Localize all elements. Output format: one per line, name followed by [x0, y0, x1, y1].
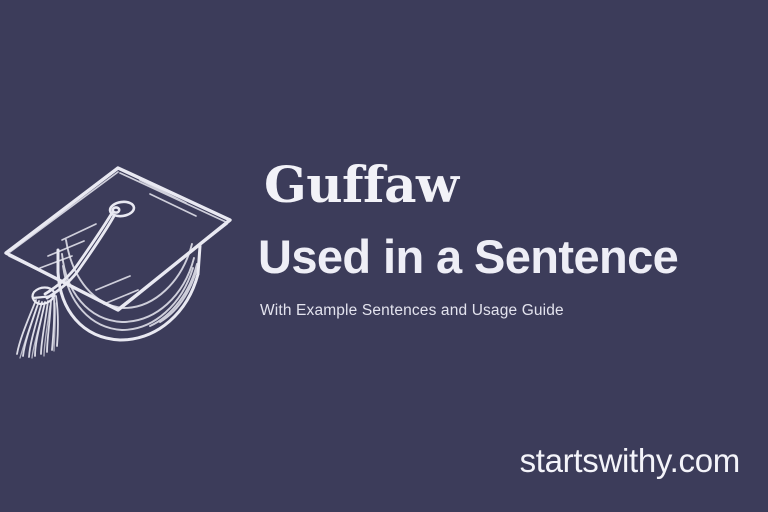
page-title-word: Guffaw [258, 160, 763, 210]
headline-block: Guffaw Used in a Sentence With Example S… [258, 160, 763, 320]
cap-skull-bands [62, 240, 199, 330]
page-subtitle: With Example Sentences and Usage Guide [260, 302, 763, 320]
graduation-cap-illustration [0, 140, 240, 370]
promo-card: Guffaw Used in a Sentence With Example S… [0, 0, 768, 512]
brand-domain: startswithy.com [520, 442, 740, 480]
tassel-cord [45, 213, 114, 298]
page-title-main: Used in a Sentence [258, 232, 763, 281]
